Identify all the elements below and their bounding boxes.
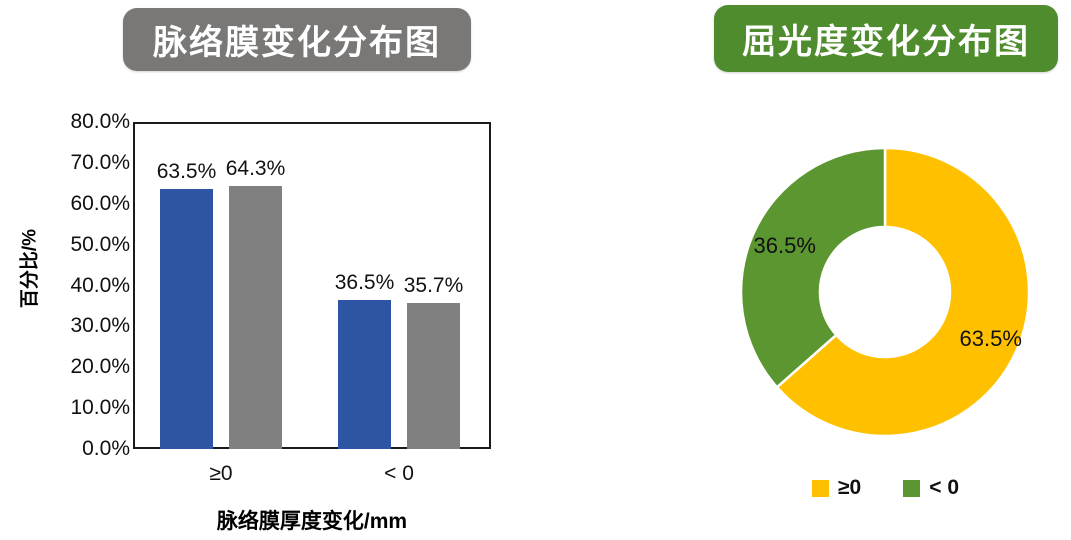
bar-chart-value-label: 36.5% [325, 271, 405, 295]
bar-chart-y-tick: 0.0% [38, 438, 130, 459]
bar-chart-bar [338, 300, 391, 449]
donut-legend: ≥0< 0 [700, 476, 1071, 500]
bar-chart-x-category: < 0 [349, 462, 449, 486]
bar-chart-y-tick: 60.0% [38, 193, 130, 214]
legend-item[interactable]: < 0 [903, 476, 959, 500]
bar-chart-y-axis-ticks: 80.0%70.0%60.0%50.0%40.0%30.0%20.0%10.0%… [30, 80, 130, 500]
right-chart-title-badge: 屈光度变化分布图 [714, 5, 1058, 72]
donut-slice-label: 36.5% [745, 233, 825, 259]
bar-chart-x-axis-title: 脉络膜厚度变化/mm [133, 505, 491, 535]
bar-chart-bar [160, 189, 213, 449]
donut-slice-label: 63.5% [951, 326, 1031, 352]
legend-label: ≥0 [838, 476, 861, 500]
left-chart-title-text: 脉络膜变化分布图 [153, 15, 441, 64]
bar-chart-y-tick: 50.0% [38, 234, 130, 255]
bar-chart-y-tick: 40.0% [38, 275, 130, 296]
bar-chart-y-tick: 30.0% [38, 315, 130, 336]
left-chart-title-badge: 脉络膜变化分布图 [123, 8, 471, 71]
choroid-change-bar-chart: 百分比/% 80.0%70.0%60.0%50.0%40.0%30.0%20.0… [0, 80, 530, 540]
bar-chart-value-label: 35.7% [394, 274, 474, 298]
legend-label: < 0 [929, 476, 959, 500]
bar-chart-y-tick: 10.0% [38, 397, 130, 418]
legend-item[interactable]: ≥0 [812, 476, 861, 500]
right-chart-title-text: 屈光度变化分布图 [742, 14, 1030, 63]
bar-chart-y-tick: 70.0% [38, 152, 130, 173]
bar-chart-bar [229, 186, 282, 449]
bar-chart-y-tick: 20.0% [38, 356, 130, 377]
bar-chart-bar [407, 303, 460, 449]
bar-chart-value-label: 64.3% [216, 157, 296, 181]
refraction-change-donut-chart: 63.5%36.5% ≥0< 0 [700, 80, 1071, 540]
bar-chart-y-tick: 80.0% [38, 111, 130, 132]
bar-chart-value-label: 63.5% [147, 160, 227, 184]
donut-svg [739, 146, 1031, 438]
donut-slice [741, 148, 885, 387]
bar-chart-x-category: ≥0 [171, 462, 271, 486]
legend-swatch [903, 480, 920, 497]
legend-swatch [812, 480, 829, 497]
